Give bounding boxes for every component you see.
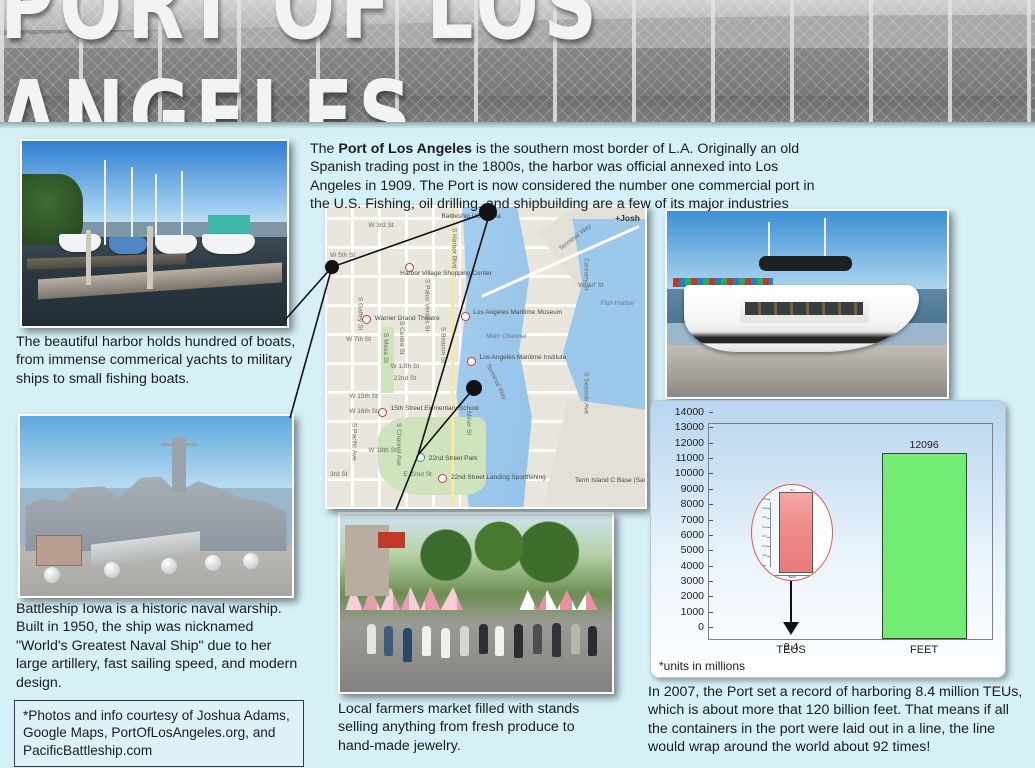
magnifier-y-tick: 0.20 — [762, 526, 767, 529]
header-banner-photo: PORT OF LOS ANGELES — [0, 0, 1035, 122]
magnifier-category-label: TEUS — [788, 575, 795, 579]
map-label-terminal-island-base: Term Island C Base (San Pedr — [575, 477, 647, 485]
map-label-22nd-street-park: 22nd Street Park — [429, 455, 478, 463]
map-label-22nd-street-landing: 22nd Street Landing Sportfishing — [451, 474, 546, 482]
map-street-22nd: 22nd St — [394, 375, 416, 383]
chart-y-tick: 0 — [698, 621, 709, 633]
chart-y-tick: 4000 — [681, 560, 709, 572]
magnifier-y-tick: 0.30 — [762, 507, 767, 510]
photo-battleship-iowa — [18, 414, 294, 598]
chart-x-label-feet: FEET — [910, 644, 938, 656]
chart-y-tick: 5000 — [681, 544, 709, 556]
chart-x-label-teus: TEUS — [776, 644, 805, 656]
magnifier-teus-bar — [779, 492, 813, 573]
map-street-w5th: W 5th St — [330, 252, 355, 260]
chart-magnifier-inset: 8.4 0.350.300.250.200.150.100.050 TEUS — [751, 484, 832, 581]
poster-canvas: PORT OF LOS ANGELES — [0, 0, 1035, 768]
credits-box: *Photos and info courtesy of Joshua Adam… — [14, 700, 304, 767]
chart-y-tick: 6000 — [681, 529, 709, 541]
map-label-battleship-iowa: Battleship USS Iowa — [441, 213, 500, 221]
map-poi-maritime-institute — [467, 357, 476, 366]
magnifier-y-tick: 0.10 — [762, 545, 767, 548]
map-label-maritime-museum: Los Angeles Maritime Museum — [473, 309, 562, 317]
map-street-beacon: S Beacon St — [438, 327, 446, 363]
battleship-mast — [172, 438, 186, 492]
intro-paragraph: The Port of Los Angeles is the southern … — [310, 140, 830, 214]
photo-yacht — [665, 209, 949, 399]
map-street-w3rd: W 3rd St — [368, 222, 393, 230]
magnifier-y-tick: 0.35 — [762, 498, 767, 501]
magnifier-arrow-head — [783, 622, 799, 635]
map-label-main-channel: Main Channel — [486, 333, 526, 341]
chart-y-tick: 14000 — [675, 406, 709, 418]
caption-chart: In 2007, the Port set a record of harbor… — [648, 683, 1028, 757]
map-street-harbor-blvd: S Harbor Blvd — [449, 228, 457, 268]
caption-harbor: The beautiful harbor holds hundred of bo… — [16, 333, 301, 388]
photo-google-map[interactable]: +Josh Battleship USS Iowa Harbor Village… — [325, 205, 647, 509]
caption-market: Local farmers market filled with stands … — [338, 700, 608, 755]
map-street-w16th: W 16th St — [349, 408, 378, 416]
map-street-w15th: W 15th St — [349, 393, 378, 401]
banner-shadow — [0, 122, 1035, 129]
chart-y-tick: 10000 — [675, 467, 709, 479]
magnifier-y-tick: 0.15 — [762, 535, 767, 538]
map-street-channel: S Channel Ave — [394, 423, 402, 466]
banner-title-text: PORT OF LOS ANGELES — [0, 0, 1035, 122]
map-street-3rd: 3rd St — [330, 471, 347, 479]
map-street-palos-verdes: S Palos Verdes St — [422, 279, 430, 331]
chart-y-tick: 7000 — [681, 514, 709, 526]
map-street-w7th: W 7th St — [346, 336, 371, 344]
map-street-mesa: S Mesa St — [381, 333, 389, 363]
chart-units-note: *units in millions — [659, 659, 745, 673]
map-attribution-label: +Josh — [615, 213, 640, 223]
caption-battleship: Battleship Iowa is a historic naval wars… — [16, 600, 306, 692]
chart-bar-feet — [882, 453, 967, 639]
yacht-windows — [745, 302, 863, 315]
chart-y-tick: 9000 — [681, 483, 709, 495]
map-street-miner: Miner St — [464, 411, 472, 435]
chart-y-tick: 1000 — [681, 606, 709, 618]
yacht-dock — [667, 345, 947, 397]
magnifier-axis — [770, 502, 771, 566]
map-street-wharf: Wharf St — [578, 282, 603, 290]
chart-y-tick: 3000 — [681, 575, 709, 587]
chart-y-tick: 8000 — [681, 498, 709, 510]
intro-bold-term: Port of Los Angeles — [338, 141, 471, 157]
magnifier-y-tick: 0.05 — [762, 554, 767, 557]
photo-farmers-market — [338, 512, 614, 694]
map-street-pacific-ave: S Pacific Ave — [349, 423, 357, 461]
intro-lead: The — [310, 141, 338, 157]
chart-y-tick: 13000 — [675, 421, 709, 433]
battleship-shed — [36, 535, 82, 566]
chart-y-tick: 2000 — [681, 590, 709, 602]
map-street-e22nd: E 22nd St — [403, 471, 432, 479]
magnifier-y-tick: 0.25 — [762, 516, 767, 519]
market-trees — [389, 518, 579, 593]
map-street-seaside: S Seaside Ave — [581, 372, 589, 414]
magnifier-y-tick: 0 — [762, 564, 763, 567]
photo-marina-harbor — [20, 139, 289, 328]
chart-plot-area: 0100020003000400050006000700080009000100… — [708, 423, 993, 640]
chart-y-tick: 11000 — [676, 452, 709, 464]
yacht-bimini-top — [759, 256, 851, 271]
map-street-w19th: W 19th St — [368, 447, 397, 455]
map-label-fish-harbor: Fish Harbor — [600, 300, 634, 308]
map-label-maritime-institute: Los Angeles Maritime Institute — [480, 354, 567, 362]
chart-panel: 0100020003000400050006000700080009000100… — [650, 400, 1006, 678]
map-street-centre: S Centre St — [397, 321, 405, 355]
map-poi-15th-street-school — [378, 408, 387, 417]
map-poi-maritime-museum — [461, 312, 470, 321]
map-label-harbor-village: Harbor Village Shopping Center — [400, 270, 492, 278]
chart-y-tick: 12000 — [675, 437, 709, 449]
map-street-gaffey: S Gaffey St — [356, 297, 364, 330]
chart-bar-value-feet: 12096 — [909, 439, 938, 451]
map-street-w13th: W 13th St — [391, 363, 420, 371]
map-poi-22nd-street-park — [416, 453, 425, 462]
